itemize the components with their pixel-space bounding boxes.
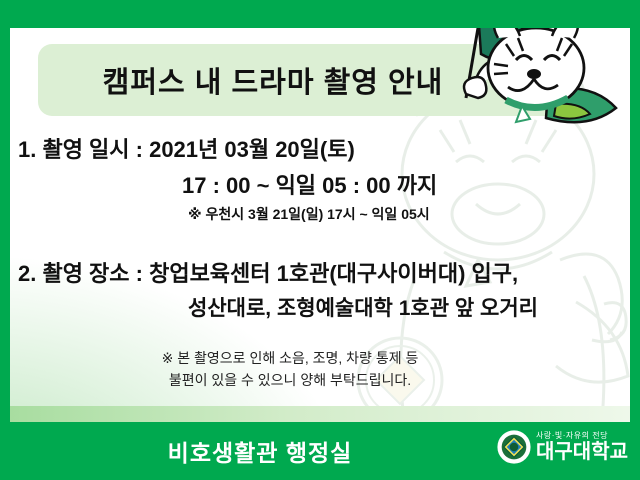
frame-border-left xyxy=(0,0,10,480)
poster-root: 캠퍼스 내 드라마 촬영 안내 xyxy=(0,0,640,480)
content-panel: 캠퍼스 내 드라마 촬영 안내 xyxy=(10,28,630,422)
footer-gradient-strip xyxy=(10,406,630,422)
footer-bar: 비호생활관 행정실 사랑·빛·자유의 전당 대구대학교 xyxy=(0,422,640,480)
poster-content: 1. 촬영 일시 : 2021년 03월 20일(토) 17 : 00 ~ 익일… xyxy=(10,28,630,422)
frame-border-top xyxy=(0,0,640,28)
item-2-line-2: 성산대로, 조형예술대학 1호관 앞 오거리 xyxy=(188,292,538,322)
brand-tagline: 사랑·빛·자유의 전당 xyxy=(536,432,628,440)
brand-text-block: 사랑·빛·자유의 전당 대구대학교 xyxy=(536,432,628,462)
item-1-line-2: 17 : 00 ~ 익일 05 : 00 까지 xyxy=(182,168,437,200)
closing-note-line-1: ※ 본 촬영으로 인해 소음, 조명, 차량 통제 등 xyxy=(10,348,570,370)
frame-border-right xyxy=(630,0,640,480)
item-2-line-1: 2. 촬영 장소 : 창업보육센터 1호관(대구사이버대) 입구, xyxy=(18,256,518,288)
closing-note: ※ 본 촬영으로 인해 소음, 조명, 차량 통제 등 불편이 있을 수 있으니… xyxy=(10,348,570,391)
university-brand: 사랑·빛·자유의 전당 대구대학교 xyxy=(497,430,628,464)
item-1-rain-note: ※ 우천시 3월 21일(일) 17시 ~ 익일 05시 xyxy=(188,204,430,224)
closing-note-line-2: 불편이 있을 수 있으니 양해 부탁드립니다. xyxy=(10,370,570,392)
item-1-line-1: 1. 촬영 일시 : 2021년 03월 20일(토) xyxy=(18,132,355,164)
brand-name: 대구대학교 xyxy=(536,442,628,462)
daegu-university-seal-icon xyxy=(497,430,531,464)
